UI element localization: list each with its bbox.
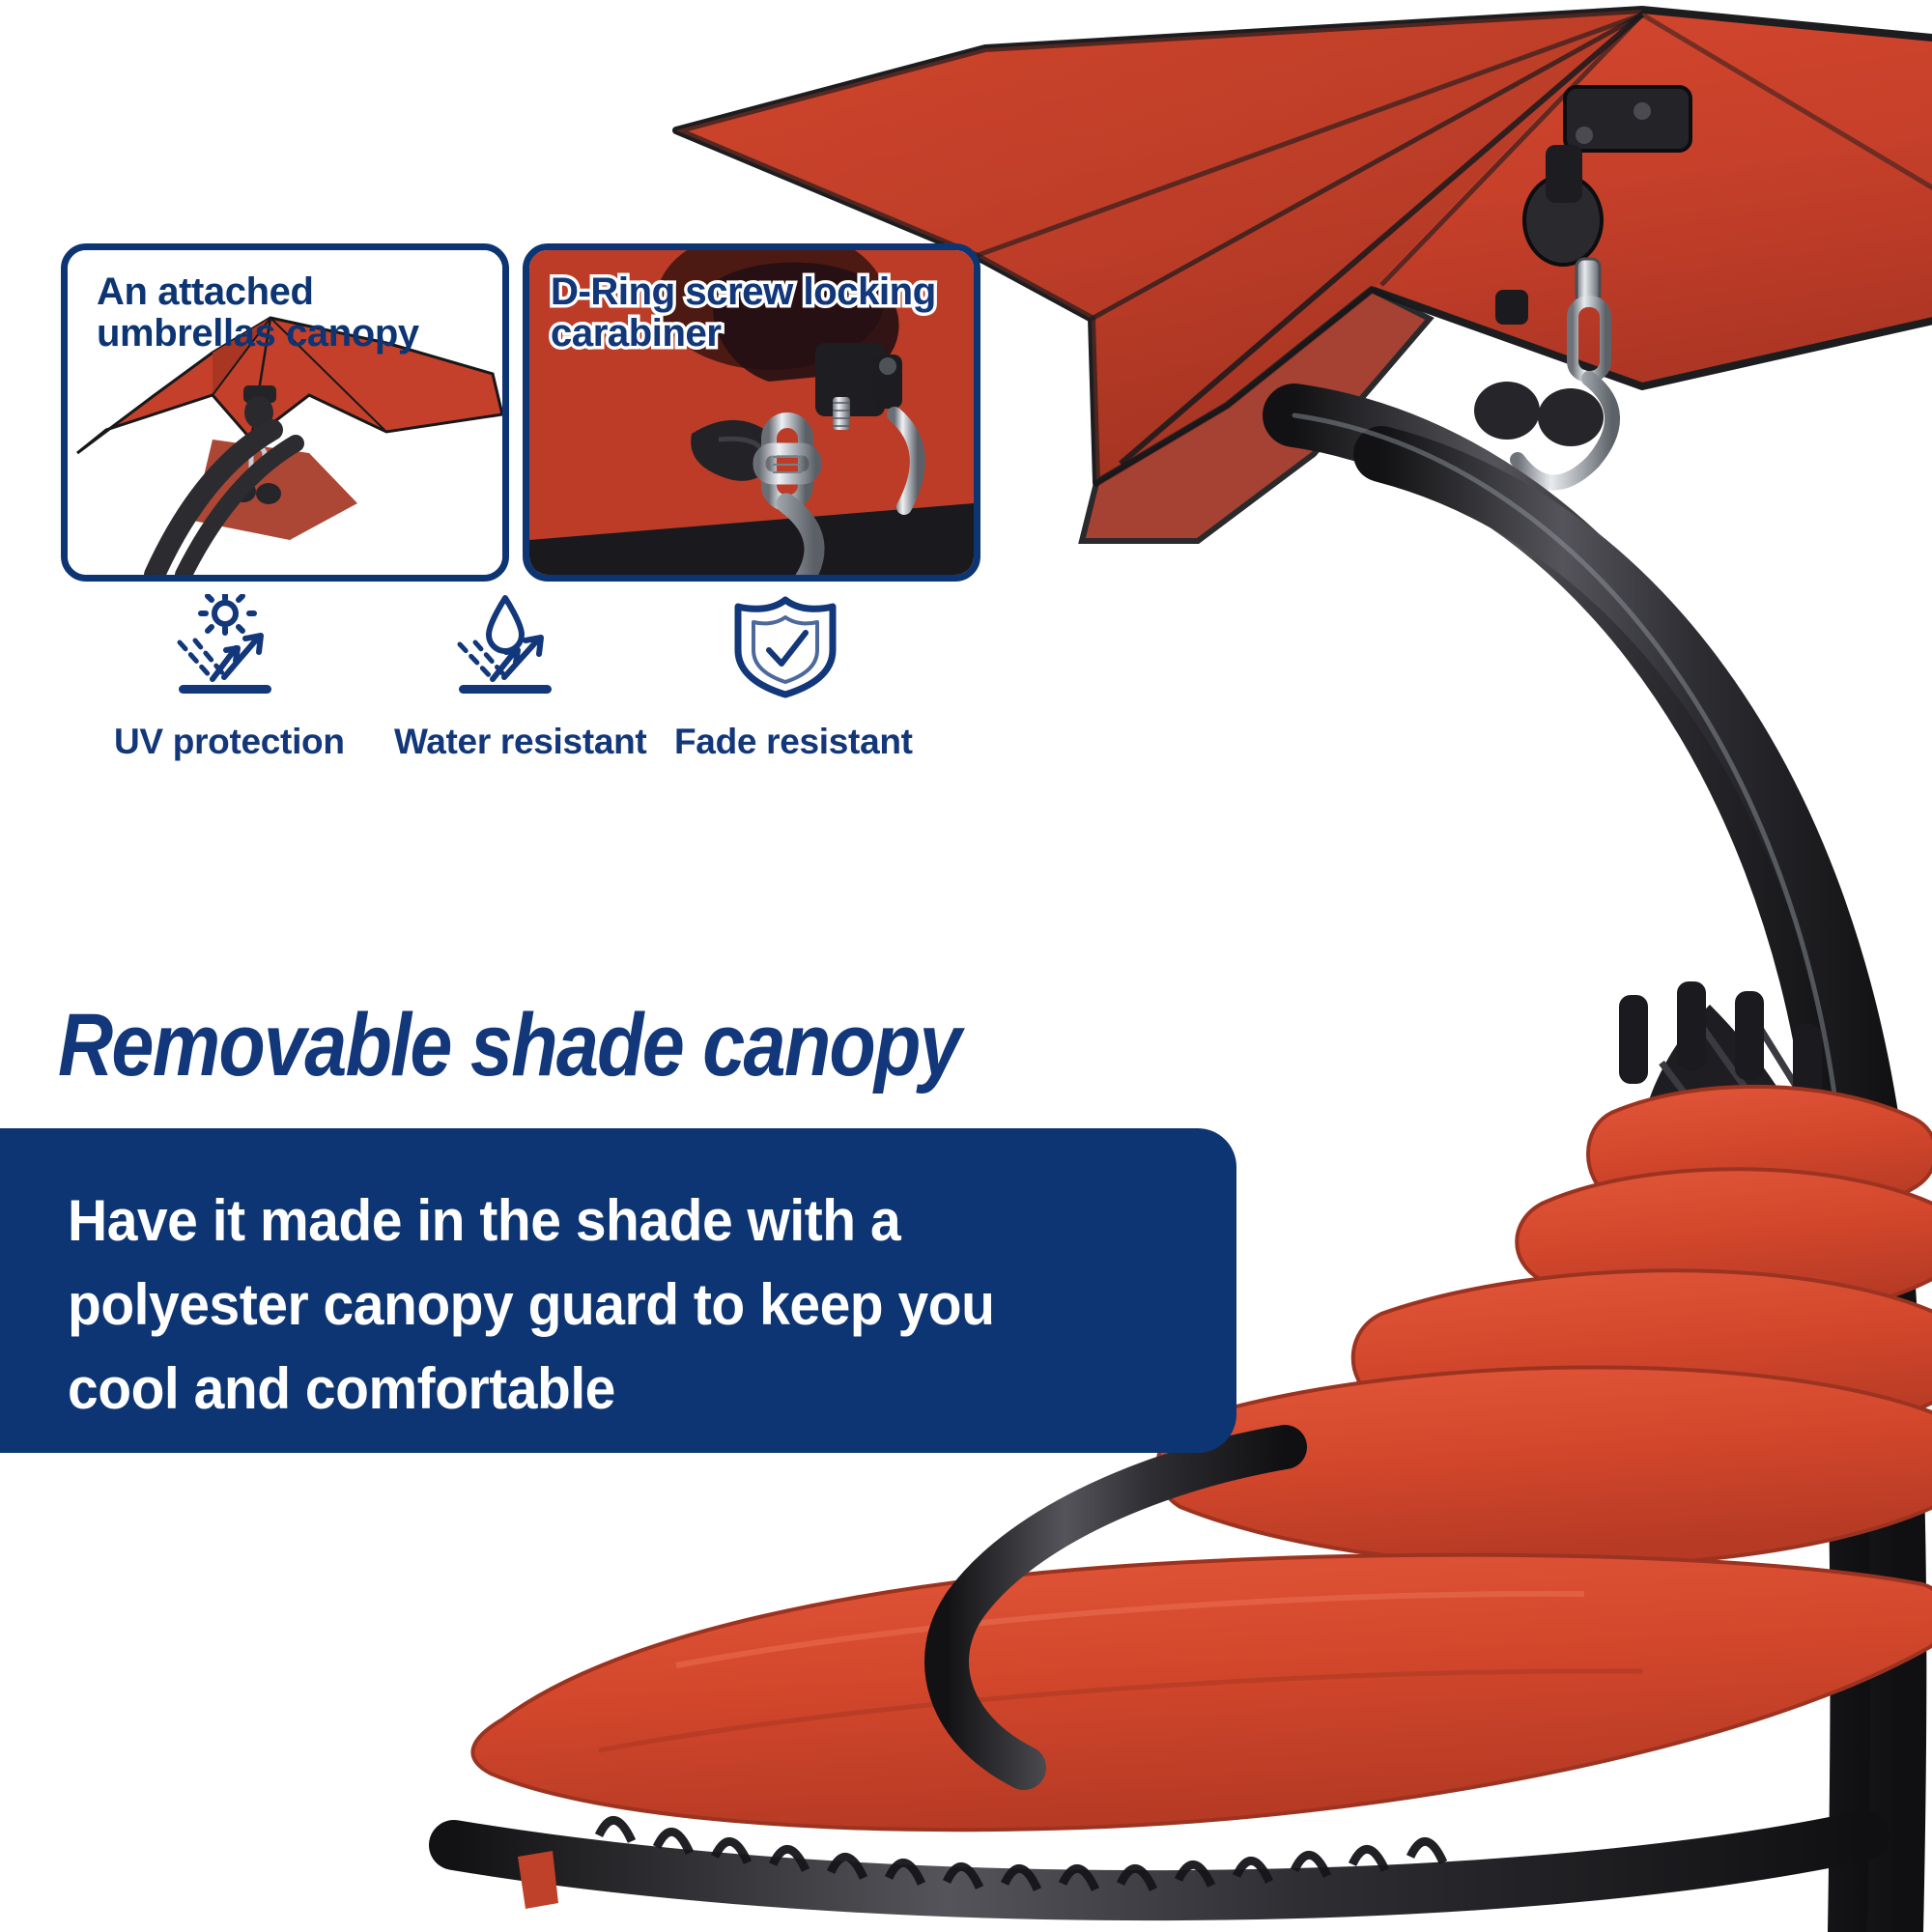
water-resistant-icon xyxy=(394,594,616,700)
description-text: Have it made in the shade with a polyest… xyxy=(68,1179,1050,1431)
description-panel: Have it made in the shade with a polyest… xyxy=(0,1128,1236,1453)
marketing-image-canvas: An attached umbrellas canopy xyxy=(0,0,1932,1932)
feature-water-resistant: Water resistant xyxy=(394,594,616,762)
uv-protection-icon xyxy=(114,594,336,700)
callout-attached-canopy: An attached umbrellas canopy xyxy=(61,243,509,582)
feature-uv-protection: UV protection xyxy=(114,594,336,762)
feature-fade-resistant: Fade resistant xyxy=(674,594,896,762)
feature-badges: UV protection xyxy=(114,594,964,768)
fade-resistant-shield-icon xyxy=(674,594,896,700)
feature-water-resistant-label: Water resistant xyxy=(394,722,616,762)
page-title: Removable shade canopy xyxy=(58,995,960,1096)
feature-uv-protection-label: UV protection xyxy=(114,722,336,762)
callout-1-caption: An attached umbrellas canopy xyxy=(97,271,491,355)
feature-fade-resistant-label: Fade resistant xyxy=(674,722,896,762)
callout-2-caption: D-Ring screw locking carabiner xyxy=(551,271,962,355)
callout-d-ring-carabiner: D-Ring screw locking carabiner D-Ring sc… xyxy=(523,243,980,582)
